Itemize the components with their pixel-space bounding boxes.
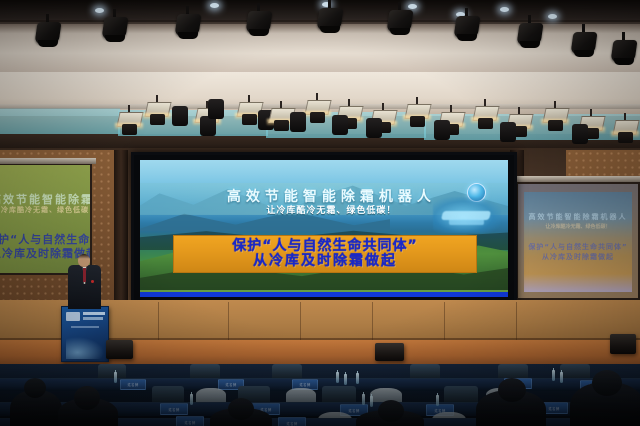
water-bottle — [552, 370, 555, 381]
podium-logo-icon — [66, 312, 80, 321]
banner-line-2: 从冷库及时除霜做起 — [253, 253, 397, 269]
placard-label: 姓名牌 — [168, 407, 179, 412]
placard-label: 姓名牌 — [348, 408, 359, 413]
audience-member-head — [498, 378, 526, 402]
podium-banner-text — [83, 312, 105, 315]
name-placard: 姓名牌 — [120, 379, 146, 390]
audience-member-head — [24, 378, 46, 398]
rail-dark-fixture — [434, 120, 450, 140]
water-bottle — [356, 373, 359, 384]
wall-column — [114, 150, 128, 302]
audience-member-head — [378, 400, 404, 422]
placard-label: 姓名牌 — [548, 406, 559, 411]
water-bottle — [362, 394, 365, 405]
audience-area: 姓名牌 姓名牌 姓名牌 姓名牌 姓名牌 姓名牌 姓名牌 姓名牌 — [0, 364, 640, 426]
name-placard: 姓名牌 — [176, 416, 204, 426]
rail-dark-fixture — [366, 118, 382, 138]
ceiling-pin-light — [548, 14, 557, 19]
rail-dark-fixture — [572, 124, 588, 144]
rail-dark-fixture — [208, 99, 224, 119]
ceiling-pin-light — [210, 3, 219, 8]
name-placard: 姓名牌 — [160, 403, 188, 415]
placard-label: 姓名牌 — [299, 382, 310, 387]
right-proj-frame — [516, 182, 640, 300]
defrost-robot-graphic — [433, 197, 501, 233]
rail-dark-fixture — [172, 106, 188, 126]
ceiling-pin-light — [500, 7, 509, 12]
water-bottle — [370, 396, 373, 407]
stage-wall-seam — [372, 302, 373, 340]
stage-wall-seam — [300, 302, 301, 340]
water-bottle — [560, 372, 563, 383]
placard-label: 姓名牌 — [286, 421, 297, 426]
ceiling-pin-light — [95, 8, 104, 13]
rail-glow-panel — [0, 108, 120, 134]
water-bottle — [114, 372, 117, 383]
speaker-face — [79, 259, 89, 266]
slide-subtitle: 让冷库酷冷无霜、绿色低碳！ — [192, 203, 472, 216]
stage-wall-seam — [158, 302, 159, 340]
podium-banner-subtext — [83, 317, 103, 320]
speaker-lapel-pin-icon — [91, 280, 94, 283]
stage-wall-seam — [444, 302, 445, 340]
placard-label: 姓名牌 — [184, 420, 195, 425]
podium-glow — [66, 337, 104, 359]
speaker-tie — [83, 268, 86, 282]
ceiling-pin-light — [408, 4, 417, 9]
water-bottle — [436, 395, 439, 406]
stage-monitor-speaker — [106, 340, 133, 359]
conference-hall-photo: 高效节能智能除霜机器人 让冷库酷冷无霜、绿色低碳！ 保护“人与自然生命共同体” … — [0, 0, 640, 426]
water-bottle — [190, 394, 193, 405]
stage-monitor-speaker — [610, 334, 636, 354]
rail-dark-fixture — [290, 112, 306, 132]
slide-bottom-strip — [140, 292, 508, 297]
audience-member-head — [74, 386, 100, 410]
rail-dark-fixture — [332, 115, 348, 135]
water-bottle — [336, 372, 339, 383]
water-bottle — [344, 374, 347, 385]
right-proj-roller — [514, 176, 640, 182]
stage-wall-seam — [228, 302, 229, 340]
placard-label: 姓名牌 — [225, 382, 236, 387]
audience-member-head — [228, 398, 254, 420]
stage-wall-seam — [516, 302, 517, 340]
placard-label: 姓名牌 — [127, 382, 138, 387]
slide-orange-banner: 保护“人与自然生命共同体” 从冷库及时除霜做起 — [173, 235, 477, 273]
speaker-podium — [61, 306, 109, 362]
led-screen-content: 高效节能智能除霜机器人 让冷库酷冷无霜、绿色低碳！ 保护“人与自然生命共同体” … — [140, 160, 508, 297]
rail-dark-fixture — [500, 122, 516, 142]
left-proj-roller — [0, 158, 96, 164]
audience-member-head — [592, 370, 622, 396]
banner-line-1: 保护“人与自然生命共同体” — [232, 239, 417, 254]
rail-dark-fixture — [200, 116, 216, 136]
name-placard: 姓名牌 — [278, 417, 306, 426]
right-projection-screen: 高效节能智能除霜机器人 让冷库酷冷无霜、绿色低碳！ 保护“人与自然生命共同体” … — [516, 182, 640, 300]
main-led-screen: 高效节能智能除霜机器人 让冷库酷冷无霜、绿色低碳！ 保护“人与自然生命共同体” … — [131, 152, 517, 306]
podium-banner-caption — [71, 326, 99, 328]
stage-monitor-speaker — [375, 343, 404, 361]
